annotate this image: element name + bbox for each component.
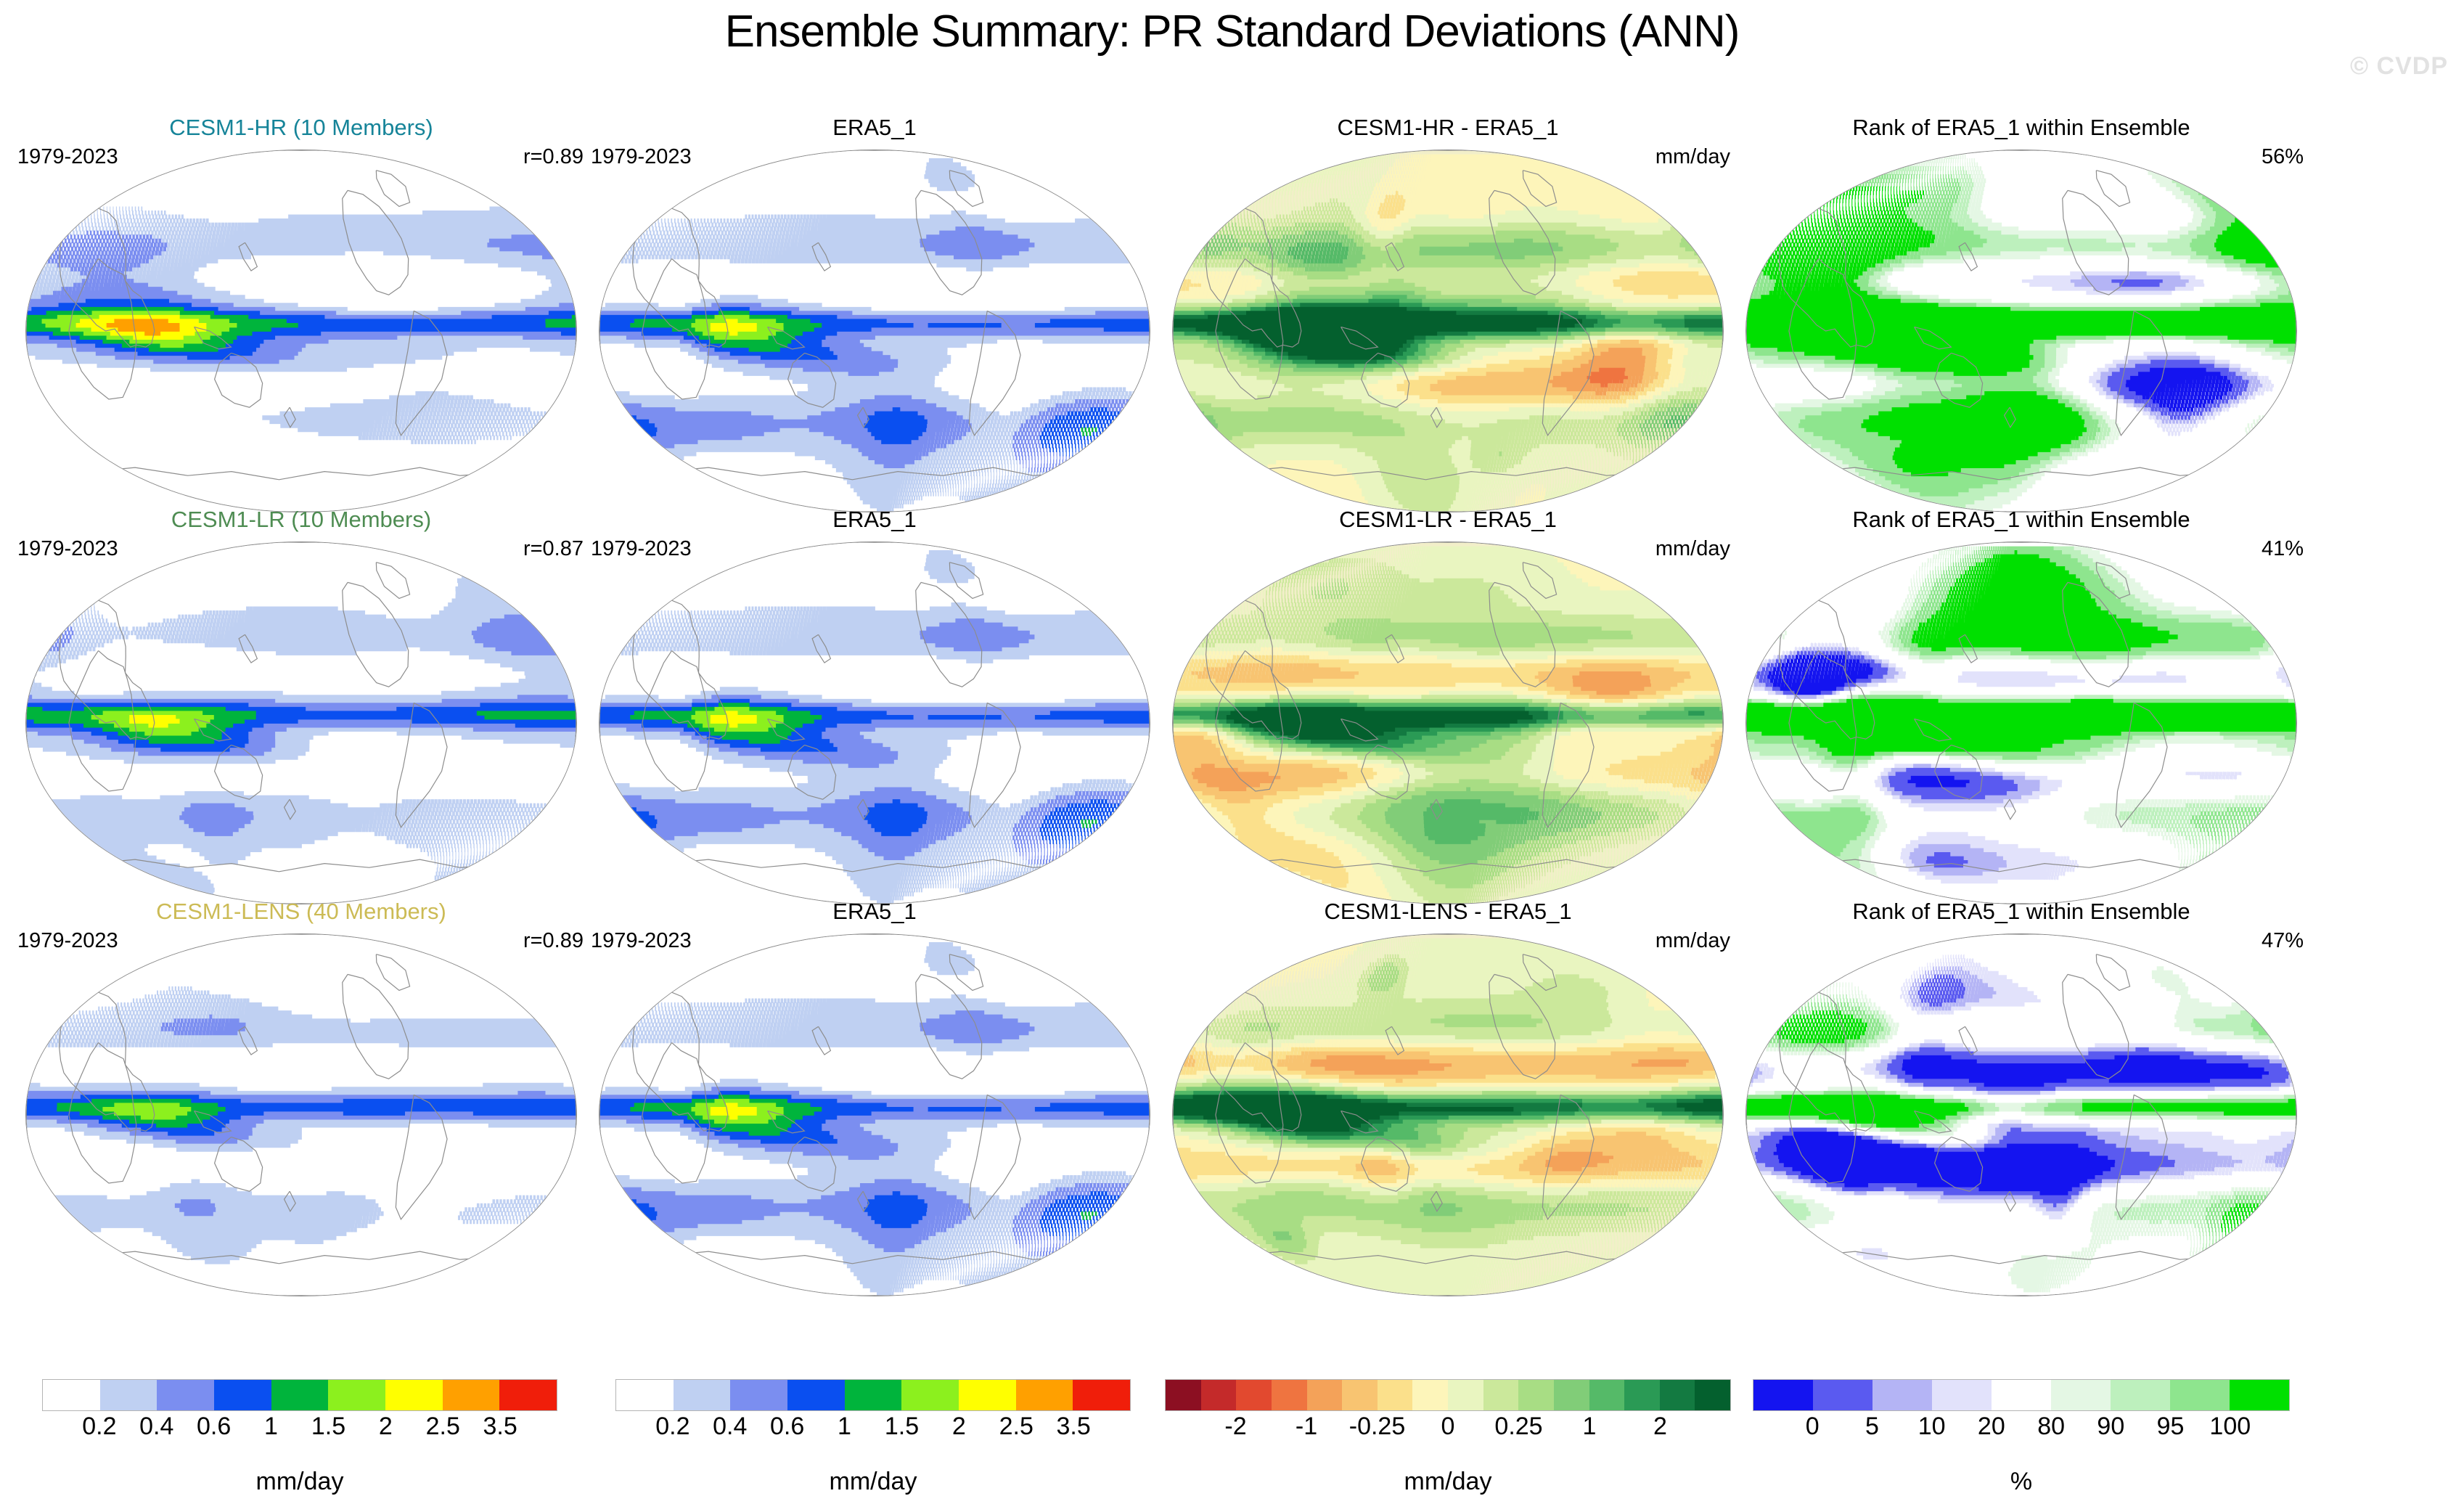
colorbar-tick-label: 80 — [2037, 1413, 2065, 1441]
map-model-cesm1-lens — [25, 933, 577, 1296]
globe-outline — [1172, 150, 1724, 512]
colorbar-swatch — [787, 1380, 845, 1410]
colorbar-strip-std-model — [42, 1379, 557, 1411]
globe-outline — [1745, 541, 2297, 904]
colorbar-swatch — [1073, 1380, 1130, 1410]
colorbar-tick-label: -1 — [1296, 1413, 1317, 1441]
colorbar-swatch — [616, 1380, 674, 1410]
colorbar-strip-rank — [1753, 1379, 2290, 1411]
colorbar-swatch — [730, 1380, 787, 1410]
colorbar-swatch — [328, 1380, 385, 1410]
colorbar-swatch — [271, 1380, 329, 1410]
map-diff-cesm1-lens — [1172, 933, 1724, 1296]
colorbar-tick-label: 3.5 — [483, 1413, 517, 1441]
colorbar-tick-label: -0.25 — [1349, 1413, 1406, 1441]
panel-rank-cesm1-lens: Rank of ERA5_1 within Ensemble47% — [1735, 929, 2308, 1336]
colorbar-tick-label: 2 — [1653, 1413, 1667, 1441]
colorbar-tick-label: 2 — [952, 1413, 966, 1441]
globe-outline — [599, 150, 1150, 512]
colorbar-swatch — [1272, 1380, 1307, 1410]
colorbar-rank: 051020809095100% — [1753, 1379, 2290, 1496]
map-rank-cesm1-lens — [1745, 933, 2297, 1296]
colorbar-swatch — [214, 1380, 271, 1410]
panel-title-obs-cesm1-lens: ERA5_1 — [588, 899, 1161, 925]
panel-title-obs-cesm1-hr: ERA5_1 — [588, 115, 1161, 141]
colorbar-swatch — [1932, 1380, 1992, 1410]
colorbar-tick-label: 0.4 — [139, 1413, 173, 1441]
colorbar-difference: -2-1-0.2500.2512mm/day — [1165, 1379, 1731, 1496]
colorbar-swatch — [1166, 1380, 1201, 1410]
colorbar-tick-label: 0.25 — [1494, 1413, 1542, 1441]
panel-obs-cesm1-hr: ERA5_11979-2023 — [588, 145, 1161, 552]
globe-outline — [1745, 150, 2297, 512]
colorbar-swatch — [1412, 1380, 1448, 1410]
map-obs-cesm1-hr — [599, 150, 1150, 512]
colorbar-swatch — [1016, 1380, 1073, 1410]
map-obs-cesm1-lr — [599, 541, 1150, 904]
map-rank-cesm1-hr — [1745, 150, 2297, 512]
colorbar-swatch — [1518, 1380, 1554, 1410]
panel-diff-cesm1-lens: CESM1-LENS - ERA5_1mm/day — [1161, 929, 1735, 1336]
panel-rank-cesm1-hr: Rank of ERA5_1 within Ensemble56% — [1735, 145, 2308, 552]
colorbar-unit-difference: mm/day — [1165, 1468, 1731, 1496]
panel-title-model-cesm1-lr: CESM1-LR (10 Members) — [15, 507, 588, 533]
colorbar-swatch — [1589, 1380, 1625, 1410]
colorbar-ticks-difference: -2-1-0.2500.2512 — [1165, 1413, 1731, 1443]
colorbar-swatch — [443, 1380, 500, 1410]
colorbar-ticks-rank: 051020809095100 — [1753, 1413, 2290, 1443]
colorbar-strip-difference — [1165, 1379, 1731, 1411]
colorbar-swatch — [100, 1380, 157, 1410]
colorbar-swatch — [1624, 1380, 1660, 1410]
colorbar-tick-label: 1 — [264, 1413, 278, 1441]
colorbar-swatch — [1695, 1380, 1730, 1410]
colorbar-swatch — [1753, 1380, 1813, 1410]
colorbar-tick-label: 0.2 — [655, 1413, 689, 1441]
panel-title-obs-cesm1-lr: ERA5_1 — [588, 507, 1161, 533]
colorbar-tick-label: 3.5 — [1056, 1413, 1090, 1441]
globe-outline — [599, 541, 1150, 904]
colorbar-tick-label: 90 — [2097, 1413, 2124, 1441]
colorbar-tick-label: 0.6 — [770, 1413, 804, 1441]
colorbar-swatch — [1554, 1380, 1589, 1410]
colorbar-tick-label: 0.4 — [713, 1413, 747, 1441]
colorbar-tick-label: 1.5 — [885, 1413, 919, 1441]
colorbar-tick-label: 10 — [1918, 1413, 1946, 1441]
globe-outline — [25, 150, 577, 512]
colorbar-swatch — [2051, 1380, 2111, 1410]
colorbar-swatch — [1813, 1380, 1872, 1410]
colorbar-tick-label: 2 — [379, 1413, 393, 1441]
colorbar-tick-label: 95 — [2157, 1413, 2185, 1441]
colorbar-swatch — [1236, 1380, 1272, 1410]
colorbar-swatch — [1872, 1380, 1932, 1410]
globe-outline — [25, 933, 577, 1296]
panel-title-diff-cesm1-lr: CESM1-LR - ERA5_1 — [1161, 507, 1735, 533]
map-diff-cesm1-lr — [1172, 541, 1724, 904]
colorbar-tick-label: -2 — [1224, 1413, 1246, 1441]
colorbar-swatch — [959, 1380, 1016, 1410]
map-model-cesm1-lr — [25, 541, 577, 904]
colorbar-swatch — [1448, 1380, 1483, 1410]
panel-title-rank-cesm1-hr: Rank of ERA5_1 within Ensemble — [1735, 115, 2308, 141]
globe-outline — [1172, 541, 1724, 904]
colorbar-swatch — [1660, 1380, 1695, 1410]
colorbar-swatch — [385, 1380, 443, 1410]
map-obs-cesm1-lens — [599, 933, 1150, 1296]
colorbar-tick-label: 1 — [1583, 1413, 1597, 1441]
globe-outline — [1172, 933, 1724, 1296]
colorbar-swatch — [2230, 1380, 2289, 1410]
globe-outline — [25, 541, 577, 904]
colorbar-swatch — [43, 1380, 100, 1410]
colorbar-tick-label: 0.6 — [197, 1413, 231, 1441]
map-diff-cesm1-hr — [1172, 150, 1724, 512]
colorbar-swatch — [1201, 1380, 1237, 1410]
colorbar-swatch — [1378, 1380, 1413, 1410]
panel-model-cesm1-lens: CESM1-LENS (40 Members)1979-2023r=0.89 — [15, 929, 588, 1336]
colorbar-tick-label: 2.5 — [999, 1413, 1034, 1441]
colorbar-tick-label: 100 — [2209, 1413, 2251, 1441]
panel-title-rank-cesm1-lens: Rank of ERA5_1 within Ensemble — [1735, 899, 2308, 925]
colorbar-swatch — [2170, 1380, 2230, 1410]
colorbar-swatch — [1992, 1380, 2051, 1410]
colorbar-tick-label: 1 — [838, 1413, 851, 1441]
panel-obs-cesm1-lens: ERA5_11979-2023 — [588, 929, 1161, 1336]
page-title: Ensemble Summary: PR Standard Deviations… — [0, 6, 2464, 57]
colorbar-tick-label: 1.5 — [311, 1413, 345, 1441]
colorbar-swatch — [157, 1380, 214, 1410]
map-rank-cesm1-lr — [1745, 541, 2297, 904]
cvdp-watermark: © CVDP — [2350, 52, 2448, 81]
colorbar-swatch — [1307, 1380, 1343, 1410]
colorbar-unit-rank: % — [1753, 1468, 2290, 1496]
colorbar-tick-label: 0.2 — [82, 1413, 116, 1441]
panel-rank-cesm1-lr: Rank of ERA5_1 within Ensemble41% — [1735, 537, 2308, 944]
colorbar-ticks-std-obs: 0.20.40.611.522.53.5 — [615, 1413, 1131, 1443]
colorbar-tick-label: 5 — [1865, 1413, 1879, 1441]
panel-obs-cesm1-lr: ERA5_11979-2023 — [588, 537, 1161, 944]
panel-title-rank-cesm1-lr: Rank of ERA5_1 within Ensemble — [1735, 507, 2308, 533]
panel-model-cesm1-lr: CESM1-LR (10 Members)1979-2023r=0.87 — [15, 537, 588, 944]
colorbar-tick-label: 20 — [1978, 1413, 2005, 1441]
colorbar-swatch — [845, 1380, 902, 1410]
colorbar-unit-std-obs: mm/day — [615, 1468, 1131, 1496]
panel-title-diff-cesm1-hr: CESM1-HR - ERA5_1 — [1161, 115, 1735, 141]
colorbar-swatch — [1483, 1380, 1519, 1410]
colorbar-tick-label: 2.5 — [426, 1413, 460, 1441]
map-model-cesm1-hr — [25, 150, 577, 512]
colorbar-ticks-std-model: 0.20.40.611.522.53.5 — [42, 1413, 557, 1443]
colorbar-strip-std-obs — [615, 1379, 1131, 1411]
colorbar-swatch — [499, 1380, 557, 1410]
panel-title-model-cesm1-lens: CESM1-LENS (40 Members) — [15, 899, 588, 925]
panel-model-cesm1-hr: CESM1-HR (10 Members)1979-2023r=0.89 — [15, 145, 588, 552]
colorbar-tick-label: 0 — [1441, 1413, 1455, 1441]
panel-title-model-cesm1-hr: CESM1-HR (10 Members) — [15, 115, 588, 141]
colorbar-swatch — [674, 1380, 731, 1410]
colorbar-swatch — [2111, 1380, 2170, 1410]
globe-outline — [1745, 933, 2297, 1296]
globe-outline — [599, 933, 1150, 1296]
colorbar-swatch — [901, 1380, 959, 1410]
colorbar-swatch — [1342, 1380, 1378, 1410]
colorbar-tick-label: 0 — [1806, 1413, 1820, 1441]
colorbar-unit-std-model: mm/day — [42, 1468, 557, 1496]
panel-title-diff-cesm1-lens: CESM1-LENS - ERA5_1 — [1161, 899, 1735, 925]
colorbar-std-obs: 0.20.40.611.522.53.5mm/day — [615, 1379, 1131, 1496]
panel-diff-cesm1-lr: CESM1-LR - ERA5_1mm/day — [1161, 537, 1735, 944]
panel-diff-cesm1-hr: CESM1-HR - ERA5_1mm/day — [1161, 145, 1735, 552]
colorbar-std-model: 0.20.40.611.522.53.5mm/day — [42, 1379, 557, 1496]
